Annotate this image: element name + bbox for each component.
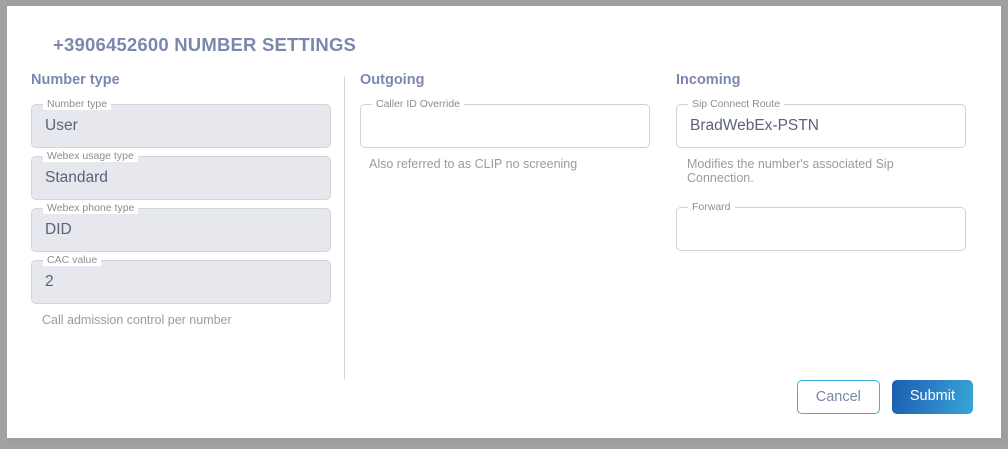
- helper-text-sip-connect-route: Modifies the number's associated Sip Con…: [687, 157, 932, 185]
- section-heading-outgoing: Outgoing: [360, 72, 650, 88]
- field-value-number-type: User: [45, 115, 78, 137]
- field-label-sip-connect-route: Sip Connect Route: [688, 98, 784, 110]
- field-sip-connect-route[interactable]: Sip Connect Route BradWebEx-PSTN: [676, 104, 966, 148]
- dialog-title: +3906452600 NUMBER SETTINGS: [53, 34, 356, 56]
- submit-button[interactable]: Submit: [892, 380, 973, 414]
- field-value-cac-value: 2: [45, 271, 54, 293]
- field-webex-phone-type[interactable]: Webex phone type DID: [31, 208, 331, 252]
- section-number-type: Number type Number type User Webex usage…: [31, 72, 331, 327]
- backdrop-left-strip: [0, 0, 7, 449]
- field-label-forward: Forward: [688, 201, 735, 213]
- cancel-button[interactable]: Cancel: [797, 380, 880, 414]
- backdrop-bottom-strip: [0, 443, 1008, 449]
- field-label-webex-phone-type: Webex phone type: [43, 202, 138, 214]
- field-label-cac-value: CAC value: [43, 254, 101, 266]
- column-divider: [344, 76, 345, 380]
- helper-text-caller-id-override: Also referred to as CLIP no screening: [369, 157, 614, 171]
- section-incoming: Incoming Sip Connect Route BradWebEx-PST…: [676, 72, 966, 251]
- section-heading-number-type: Number type: [31, 72, 331, 88]
- field-cac-value[interactable]: CAC value 2: [31, 260, 331, 304]
- section-heading-incoming: Incoming: [676, 72, 966, 88]
- section-outgoing: Outgoing Caller ID Override Also referre…: [360, 72, 650, 171]
- dialog-actions: Cancel Submit: [797, 380, 973, 414]
- helper-text-cac-value: Call admission control per number: [42, 313, 287, 327]
- dialog-body: Number type Number type User Webex usage…: [7, 72, 1001, 382]
- field-forward[interactable]: Forward: [676, 207, 966, 251]
- field-label-number-type: Number type: [43, 98, 111, 110]
- field-value-webex-phone-type: DID: [45, 219, 72, 241]
- field-caller-id-override[interactable]: Caller ID Override: [360, 104, 650, 148]
- field-number-type[interactable]: Number type User: [31, 104, 331, 148]
- field-webex-usage-type[interactable]: Webex usage type Standard: [31, 156, 331, 200]
- field-value-webex-usage-type: Standard: [45, 167, 108, 189]
- field-label-webex-usage-type: Webex usage type: [43, 150, 138, 162]
- field-value-sip-connect-route: BradWebEx-PSTN: [690, 115, 819, 137]
- number-settings-dialog: +3906452600 NUMBER SETTINGS Number type …: [7, 6, 1001, 438]
- field-label-caller-id-override: Caller ID Override: [372, 98, 464, 110]
